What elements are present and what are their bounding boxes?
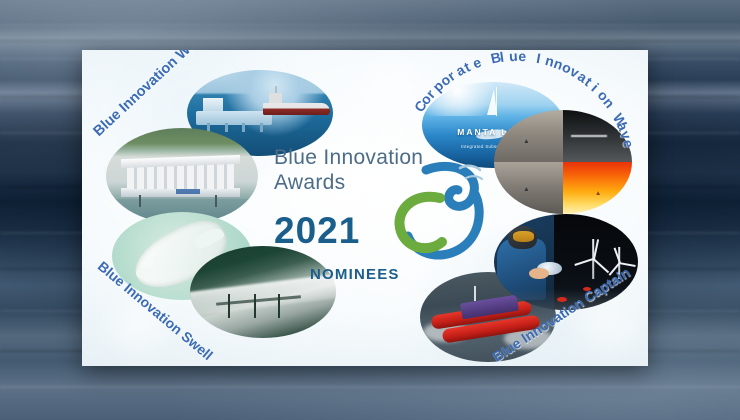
barge-leg [242,123,245,132]
mooring-post [139,195,141,207]
tanker-hull [263,103,330,115]
blue-innovation-swirl-logo [382,158,488,266]
auv-nose [136,267,153,279]
barge-leg [260,123,263,132]
building-sign [176,189,200,194]
category-label-char: l [499,50,505,65]
support-pole [228,294,230,318]
mooring-post [215,195,217,207]
barge-leg [225,123,228,132]
building-facade [127,164,233,189]
diver-mask [513,231,535,242]
awards-poster-card: MANTA LINE Integrated Subsea Buoyancy [82,50,648,366]
support-pole [254,294,256,318]
screenshot-canvas: MANTA LINE Integrated Subsea Buoyancy [0,0,740,420]
diver-hand [529,268,549,280]
photo-floating-pontoon-building [106,128,258,224]
category-label-char: I [535,50,542,66]
wind-turbine-icon [580,239,606,279]
photo-diver-and-offshore-wind-turbines [494,214,638,310]
nominees-label: NOMINEES [310,266,504,283]
support-pole [278,294,280,318]
category-label-char: u [509,50,518,64]
category-label-char [527,50,532,65]
category-label-char: e [518,50,526,64]
usv-antenna [474,286,476,300]
category-label-corporate-wave: Corporate Blue Innovation Wave [366,50,648,170]
